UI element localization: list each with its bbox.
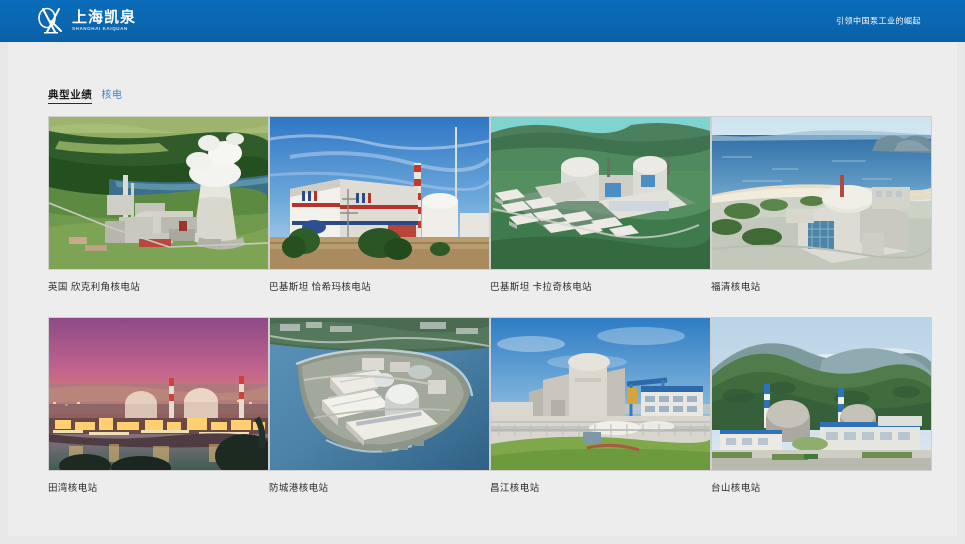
thumbnail-mountain-twin-dome[interactable]: [711, 317, 932, 471]
gallery-item[interactable]: 昌江核电站: [490, 317, 711, 494]
brand-logo[interactable]: 上海凯泉 SHANGHAI KAIQUAN: [36, 7, 136, 35]
thumbnail-aerial-cooling-tower[interactable]: [48, 116, 269, 270]
gallery-item[interactable]: 台山核电站: [711, 317, 932, 494]
scene-concrete-reactor-daylight-image: [491, 318, 710, 470]
scene-turbine-hall-chimney-image: [270, 117, 489, 269]
gallery-item[interactable]: 田湾核电站: [48, 317, 269, 494]
kaiquan-kx-mark-icon: [36, 7, 66, 35]
scene-render-twin-dome-hills-image: [491, 117, 710, 269]
gallery-item-caption: 防城港核电站: [269, 480, 490, 494]
brand-name-en: SHANGHAI KAIQUAN: [72, 27, 136, 32]
content-area: 典型业绩 核电: [8, 42, 957, 494]
gallery-item-caption: 台山核电站: [711, 480, 932, 494]
gallery-item-caption: 田湾核电站: [48, 480, 269, 494]
scene-dusk-lit-plant-image: [49, 318, 268, 470]
section-heading: 典型业绩 核电: [48, 86, 957, 104]
scene-mountain-twin-dome-image: [712, 318, 931, 470]
thumbnail-aerial-peninsula[interactable]: [269, 317, 490, 471]
gallery-grid: 英国 欣克利角核电站: [48, 116, 932, 494]
gallery-item[interactable]: 巴基斯坦 恰希玛核电站: [269, 116, 490, 293]
scene-aerial-cooling-tower-image: [49, 117, 268, 269]
thumbnail-dusk-lit-plant[interactable]: [48, 317, 269, 471]
gallery-item-caption: 巴基斯坦 卡拉奇核电站: [490, 279, 711, 293]
thumbnail-turbine-hall-chimney[interactable]: [269, 116, 490, 270]
gallery-item[interactable]: 福清核电站: [711, 116, 932, 293]
page-root: 上海凯泉 SHANGHAI KAIQUAN 引领中国泵工业的崛起 典型业绩 核电: [0, 0, 965, 544]
gallery-item[interactable]: 巴基斯坦 卡拉奇核电站: [490, 116, 711, 293]
gallery-item-caption: 巴基斯坦 恰希玛核电站: [269, 279, 490, 293]
site-header: 上海凯泉 SHANGHAI KAIQUAN 引领中国泵工业的崛起: [0, 0, 965, 42]
gallery-item-caption: 昌江核电站: [490, 480, 711, 494]
thumbnail-render-twin-dome-hills[interactable]: [490, 116, 711, 270]
gallery-item-caption: 英国 欣克利角核电站: [48, 279, 269, 293]
scene-render-coastal-dome-image: [712, 117, 931, 269]
thumbnail-render-coastal-dome[interactable]: [711, 116, 932, 270]
brand-name-cn: 上海凯泉: [72, 10, 136, 25]
header-slogan: 引领中国泵工业的崛起: [836, 16, 921, 27]
gallery-item[interactable]: 防城港核电站: [269, 317, 490, 494]
scene-aerial-peninsula-image: [270, 318, 489, 470]
content-sheet: 典型业绩 核电: [8, 42, 957, 536]
gallery-item[interactable]: 英国 欣克利角核电站: [48, 116, 269, 293]
page-title: 典型业绩: [48, 87, 92, 104]
gallery-item-caption: 福清核电站: [711, 279, 932, 293]
section-subtitle[interactable]: 核电: [101, 86, 122, 101]
thumbnail-concrete-reactor-daylight[interactable]: [490, 317, 711, 471]
